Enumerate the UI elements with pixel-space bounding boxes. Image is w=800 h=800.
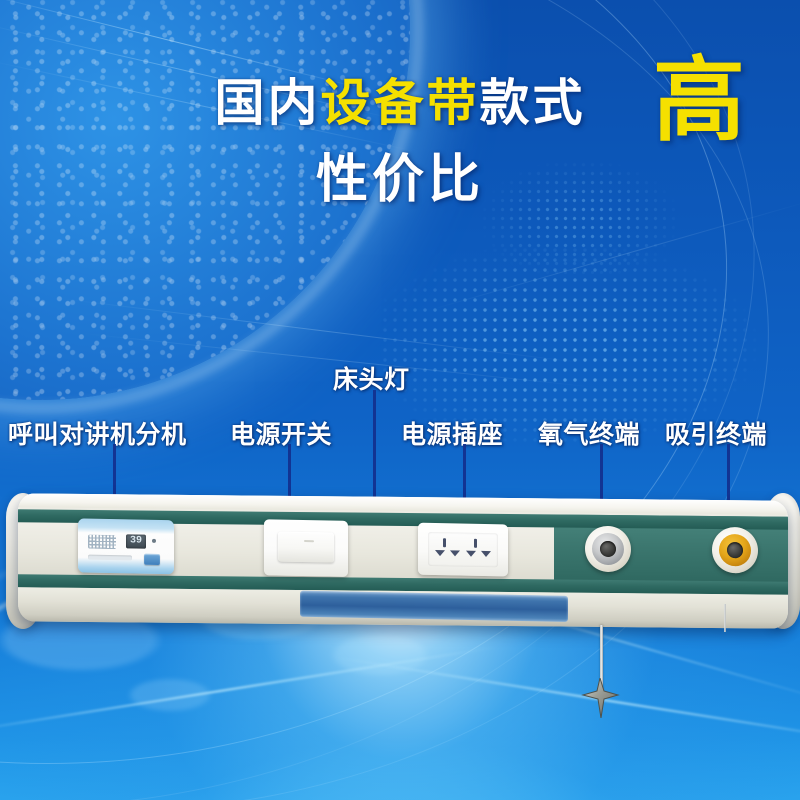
headline-big-word: 高 xyxy=(653,55,745,147)
poster-canvas: 国内设备带款式 性价比 高 呼叫对讲机分机 电源开关 床头灯 电源插座 氧气终端… xyxy=(0,0,800,800)
pull-cord-line-secondary xyxy=(724,604,726,632)
pull-cord-handle-icon[interactable] xyxy=(578,678,622,718)
bed-lamp-light-strip xyxy=(300,591,568,622)
headline-line1-accent: 设备带 xyxy=(321,75,480,131)
callout-label-oxygen-terminal: 氧气终端 xyxy=(538,415,640,451)
socket-angled-slot-1 xyxy=(435,550,445,556)
power-switch-plate[interactable] xyxy=(264,519,348,577)
suction-terminal-port xyxy=(727,542,743,558)
intercom-label-slot xyxy=(88,555,132,561)
nurse-call-intercom-unit[interactable]: 39 xyxy=(78,518,174,574)
power-socket-plate[interactable] xyxy=(418,523,508,577)
headline-line1-part2: 款式 xyxy=(480,75,586,131)
power-switch-rocker[interactable] xyxy=(278,532,334,563)
callout-label-power-switch: 电源开关 xyxy=(230,415,332,451)
speaker-grille-icon xyxy=(88,535,116,550)
headline-line-2: 性价比 xyxy=(0,154,800,206)
callout-label-power-socket: 电源插座 xyxy=(401,415,503,451)
socket-pin-slot-1 xyxy=(443,538,446,547)
suction-terminal-outlet[interactable] xyxy=(712,527,758,574)
socket-angled-slot-4 xyxy=(481,551,491,557)
indicator-led-icon xyxy=(152,539,156,543)
callout-label-intercom: 呼叫对讲机分机 xyxy=(8,415,187,451)
rocker-marking xyxy=(304,540,314,542)
panel-body: 39 xyxy=(18,493,788,628)
power-socket-face[interactable] xyxy=(428,532,498,567)
intercom-call-button[interactable] xyxy=(144,554,160,565)
callout-label-bed-lamp: 床头灯 xyxy=(333,360,410,396)
intercom-display: 39 xyxy=(126,534,146,548)
bed-head-panel: 39 xyxy=(18,497,788,637)
oxygen-terminal-port xyxy=(600,541,616,557)
socket-angled-slot-3 xyxy=(466,551,476,557)
headline-line1-part1: 国内 xyxy=(215,75,321,131)
socket-pin-slot-2 xyxy=(474,539,477,548)
socket-angled-slot-2 xyxy=(450,550,460,556)
callout-label-suction-terminal: 吸引终端 xyxy=(665,415,767,451)
oxygen-terminal-outlet[interactable] xyxy=(585,526,631,573)
